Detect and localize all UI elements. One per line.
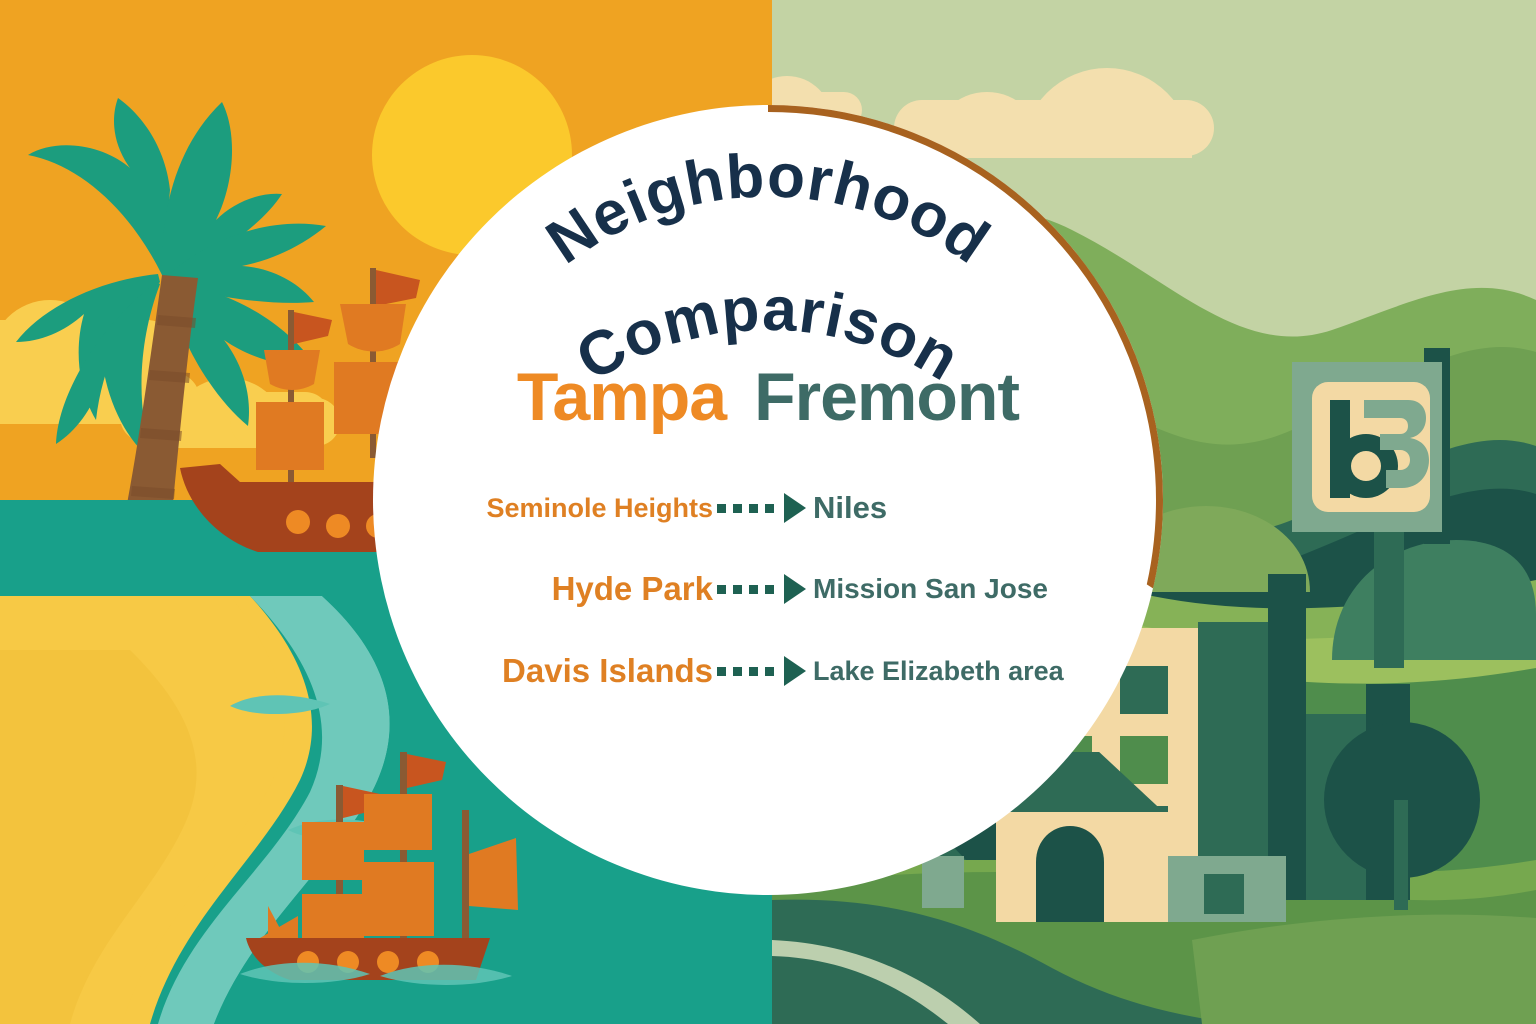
- arrowhead-icon: [784, 656, 806, 686]
- dotted-arrow-icon: [713, 656, 809, 686]
- connector-dot: [733, 504, 742, 513]
- house-icon: [994, 752, 1324, 972]
- connector-dot: [733, 667, 742, 676]
- neighborhood-right: Lake Elizabeth area: [809, 656, 1064, 687]
- connector-dot: [733, 585, 742, 594]
- connector-dot: [749, 504, 758, 513]
- comparison-row: Hyde Park Mission San Jose: [373, 570, 1163, 608]
- connector-dot: [717, 585, 726, 594]
- city-headers: Tampa Fremont: [373, 358, 1163, 436]
- neighborhood-left: Davis Islands: [373, 652, 713, 690]
- infographic-canvas: Neighborhood Comparison Tampa Fremont Se…: [0, 0, 1536, 1024]
- arrowhead-icon: [784, 493, 806, 523]
- connector-dot: [717, 504, 726, 513]
- connector-dot: [765, 667, 774, 676]
- city-name-left: Tampa: [517, 358, 726, 436]
- dotted-arrow-icon: [713, 574, 809, 604]
- connector-dot: [717, 667, 726, 676]
- neighborhood-left: Seminole Heights: [373, 493, 713, 524]
- arrowhead-icon: [784, 574, 806, 604]
- neighborhood-left: Hyde Park: [373, 570, 713, 608]
- neighborhood-right: Niles: [809, 490, 887, 526]
- connector-dot: [765, 504, 774, 513]
- connector-dot: [765, 585, 774, 594]
- dotted-arrow-icon: [713, 493, 809, 523]
- connector-dot: [749, 667, 758, 676]
- city-name-right: Fremont: [754, 358, 1019, 436]
- connector-dot: [749, 585, 758, 594]
- neighborhood-right: Mission San Jose: [809, 573, 1048, 605]
- comparison-list: Seminole Heights Niles Hyde Park Mission…: [373, 490, 1163, 734]
- billboard-logo: [1282, 348, 1536, 668]
- comparison-row: Seminole Heights Niles: [373, 490, 1163, 526]
- comparison-row: Davis Islands Lake Elizabeth area: [373, 652, 1163, 690]
